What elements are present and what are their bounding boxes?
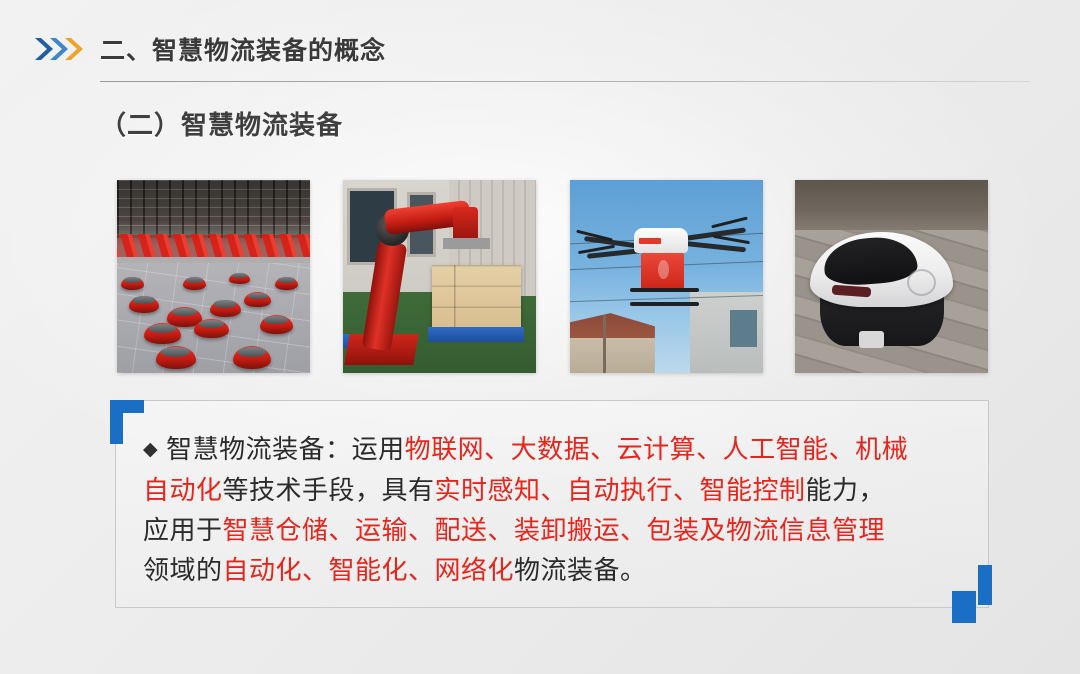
text-segment-highlight: 智慧仓储、运输、配送、装卸搬运、包装及物流信息管理 <box>223 515 886 545</box>
agv-robot <box>144 323 181 344</box>
page-title: 二、智慧物流装备的概念 <box>100 31 386 67</box>
header-divider <box>100 81 1030 82</box>
agv-robot <box>156 346 197 369</box>
warehouse-ceiling <box>117 180 310 238</box>
agv-robot <box>210 300 241 317</box>
agv-robot <box>233 346 272 369</box>
delivery-robot-emblem <box>907 269 936 296</box>
text-segment-highlight: 实时感知、自动执行、智能控制 <box>435 475 806 505</box>
robot-cell-scene <box>343 180 536 373</box>
agv-robot <box>244 292 271 307</box>
robot-gripper <box>443 238 489 250</box>
drone-logo <box>639 238 660 244</box>
agv-robot <box>194 319 229 338</box>
blue-pallet <box>428 327 525 342</box>
drone-rotor <box>711 216 747 228</box>
drone-landing-skid <box>630 288 699 292</box>
sky-background <box>570 180 763 373</box>
delivery-robot-wheel <box>859 331 884 348</box>
concrete-building <box>690 292 763 373</box>
text-segment-highlight: 自动化、智能化、网络化 <box>223 555 515 585</box>
utility-pole <box>603 315 606 373</box>
red-parcel <box>641 253 683 290</box>
tiled-roof-house <box>570 313 655 373</box>
warehouse-scene <box>117 180 310 373</box>
agv-robot <box>260 315 293 334</box>
slide-canvas: 二、智慧物流装备的概念 （二）智慧物流装备 <box>0 0 1080 674</box>
chevron-group-icon <box>32 36 94 62</box>
agv-robot <box>121 277 144 291</box>
agv-robot <box>275 277 298 291</box>
chevron-right-icon-3 <box>62 36 84 62</box>
definition-line-3: 应用于智慧仓储、运输、配送、装卸搬运、包装及物流信息管理 <box>143 510 973 550</box>
corner-bracket-top-left-icon <box>110 400 150 444</box>
warehouse-red-racking <box>117 234 310 257</box>
definition-text: ◆智慧物流装备：运用物联网、大数据、云计算、人工智能、机械 自动化等技术手段，具… <box>143 429 973 590</box>
photo-palletizing-robot-arm <box>343 180 536 373</box>
text-segment: 物流装备。 <box>514 555 647 585</box>
photo-delivery-drone <box>570 180 763 373</box>
drone-landing-skid <box>630 302 699 306</box>
pavement-scene <box>795 180 988 373</box>
slide-header: 二、智慧物流装备的概念 <box>0 0 1080 82</box>
text-segment: 智慧物流装备：运用 <box>166 434 405 464</box>
text-segment: 等技术手段，具有 <box>223 475 435 505</box>
text-segment: 应用于 <box>143 515 223 545</box>
drone-rotor <box>713 235 750 244</box>
definition-line-4: 领域的自动化、智能化、网络化物流装备。 <box>143 550 973 590</box>
corner-bracket-bottom-right-icon <box>952 565 1000 623</box>
definition-line-1: ◆智慧物流装备：运用物联网、大数据、云计算、人工智能、机械 <box>143 429 973 470</box>
agv-robot <box>183 277 206 291</box>
drone-arm <box>682 240 746 252</box>
curb-shadow <box>795 180 988 230</box>
section-subtitle: （二）智慧物流装备 <box>100 105 343 142</box>
agv-robot <box>229 273 250 285</box>
agv-robot <box>129 296 160 313</box>
definition-line-2: 自动化等技术手段，具有实时感知、自动执行、智能控制能力， <box>143 470 973 510</box>
photo-warehouse-agv-robots <box>117 180 310 373</box>
photo-autonomous-delivery-robot <box>795 180 988 373</box>
text-segment: 领域的 <box>143 555 223 585</box>
cardboard-box-stack <box>432 265 521 327</box>
text-segment-highlight: 自动化 <box>143 475 223 505</box>
text-segment-highlight: 物联网、大数据、云计算、人工智能、机械 <box>405 434 909 464</box>
text-segment: 能力， <box>806 475 886 505</box>
